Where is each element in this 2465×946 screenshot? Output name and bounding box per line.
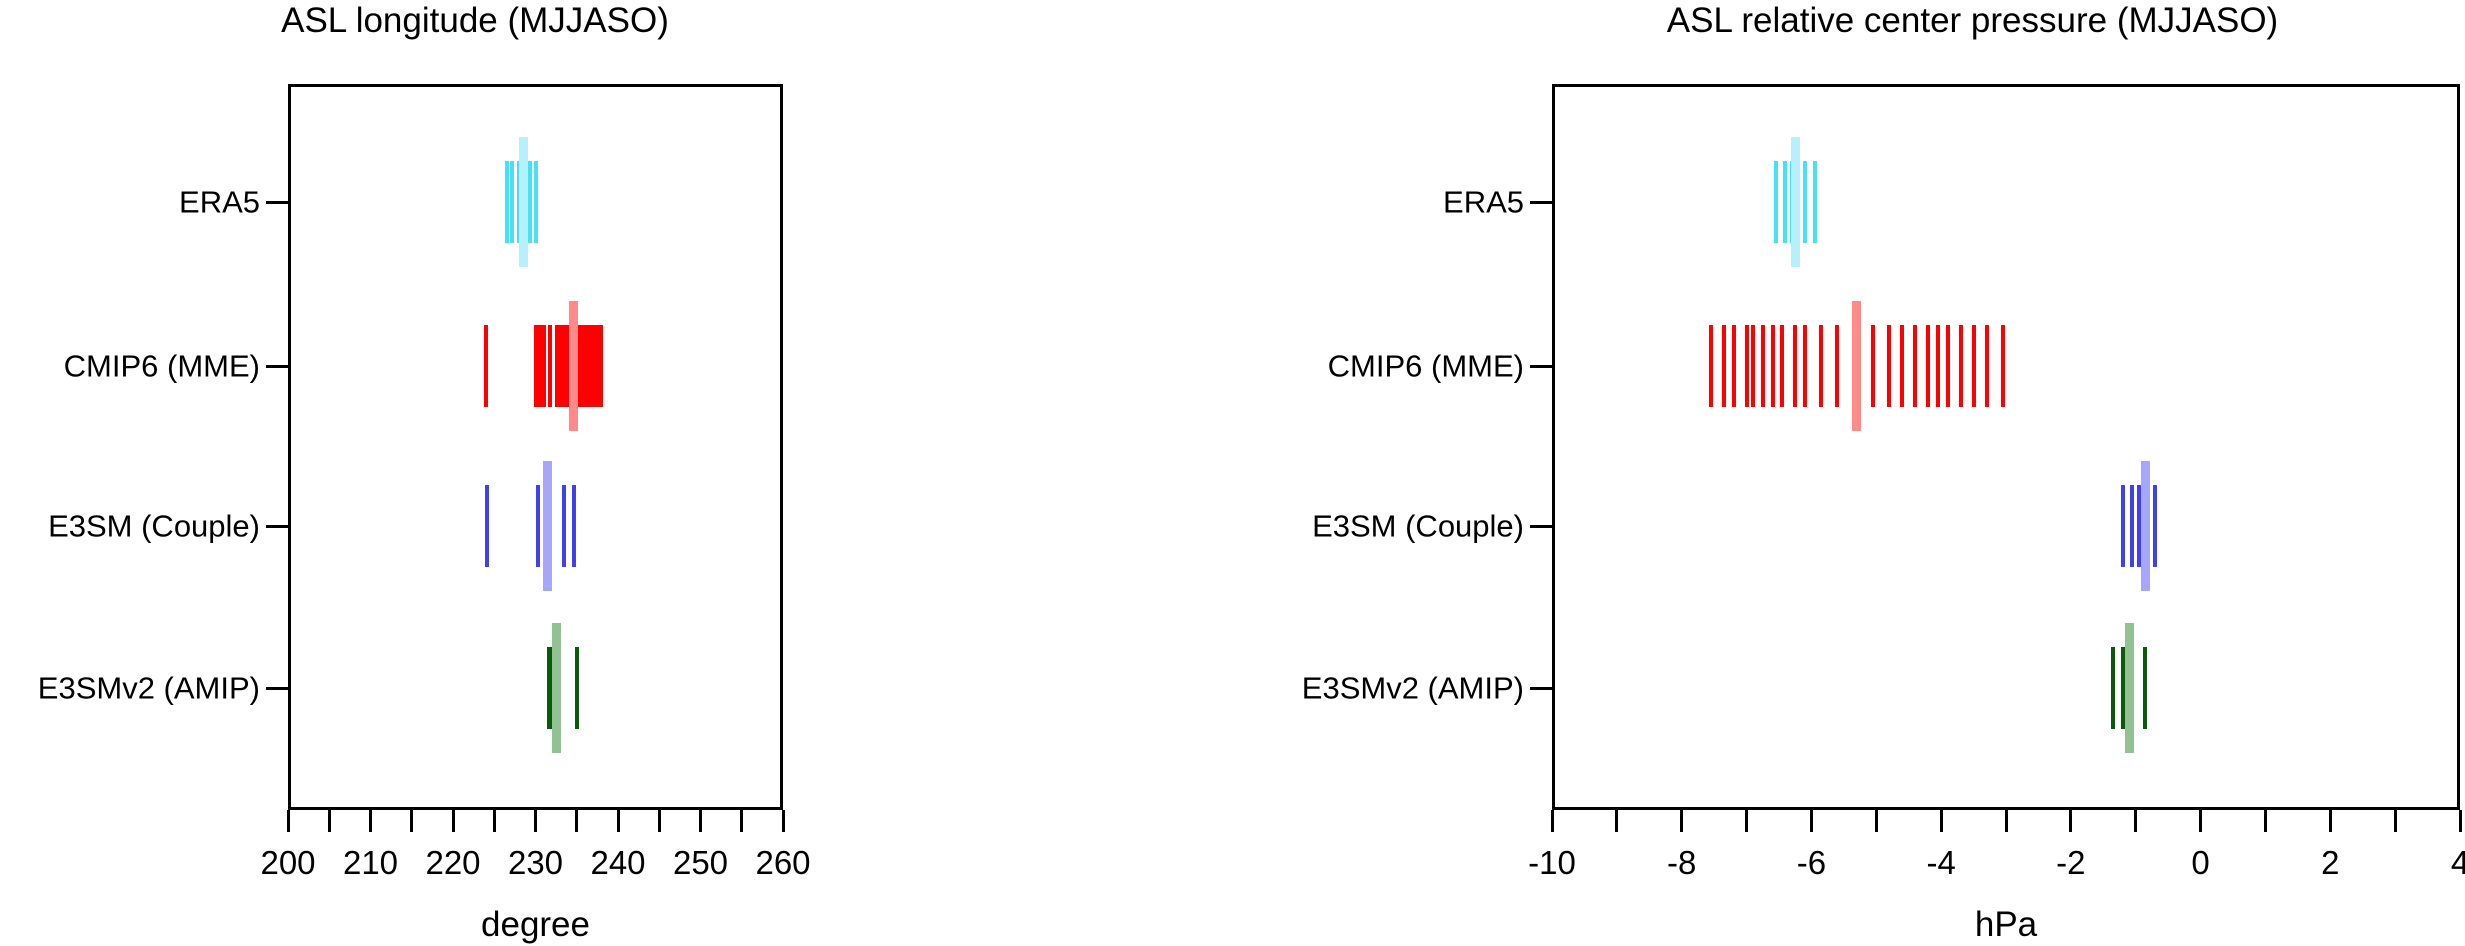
x-axis-major-tick (1810, 810, 1813, 832)
panel-title-pressure: ASL relative center pressure (MJJASO) (1480, 2, 2465, 40)
data-mark-cmip6 (1871, 325, 1875, 407)
data-mark-e3sm (2153, 485, 2157, 567)
x-axis-title-pressure: hPa (1975, 907, 2037, 942)
data-mark-cmip6 (1936, 325, 1940, 407)
x-axis-major-tick (2459, 810, 2462, 832)
x-axis-major-tick (1680, 810, 1683, 832)
data-mark-e3smv2 (2143, 647, 2147, 729)
data-mark-era5 (1783, 161, 1787, 243)
mean-mark-cmip6 (1852, 301, 1861, 431)
x-axis-major-tick (1940, 810, 1943, 832)
data-mark-cmip6 (1771, 325, 1775, 407)
x-axis-major-tick (2329, 810, 2332, 832)
data-mark-cmip6 (1761, 325, 1765, 407)
data-mark-e3smv2 (2111, 647, 2115, 729)
data-mark-era5 (1803, 161, 1807, 243)
x-axis-major-tick (1551, 810, 1554, 832)
data-mark-era5 (1774, 161, 1778, 243)
y-axis-tick (1530, 687, 1552, 690)
x-axis-tick-label: -4 (1926, 846, 1955, 879)
x-axis-tick-label: -10 (1528, 846, 1576, 879)
x-axis-minor-tick (1875, 810, 1878, 832)
y-axis-label-e3smv2: E3SMv2 (AMIP) (0, 673, 1524, 704)
mean-mark-e3smv2 (2125, 623, 2134, 753)
y-axis-label-era5: ERA5 (0, 187, 1524, 218)
data-mark-cmip6 (1751, 325, 1755, 407)
y-axis-tick (1530, 525, 1552, 528)
x-axis-minor-tick (1615, 810, 1618, 832)
panel-pressure: ASL relative center pressure (MJJASO)-10… (0, 0, 2465, 946)
data-mark-cmip6 (1913, 325, 1917, 407)
data-mark-cmip6 (1887, 325, 1891, 407)
mean-mark-e3sm (2141, 461, 2150, 591)
x-axis-major-tick (2199, 810, 2202, 832)
x-axis-major-tick (2069, 810, 2072, 832)
y-axis-tick (1530, 365, 1552, 368)
data-mark-cmip6 (1900, 325, 1904, 407)
data-mark-cmip6 (1985, 325, 1989, 407)
data-mark-cmip6 (1709, 325, 1713, 407)
x-axis-minor-tick (2264, 810, 2267, 832)
data-mark-cmip6 (1780, 325, 1784, 407)
x-axis-tick-label: -6 (1797, 846, 1826, 879)
y-axis-tick (1530, 201, 1552, 204)
data-mark-e3sm (2121, 485, 2125, 567)
data-mark-cmip6 (1732, 325, 1736, 407)
data-mark-cmip6 (2001, 325, 2005, 407)
x-axis-tick-label: 2 (2321, 846, 2339, 879)
mean-mark-era5 (1791, 137, 1800, 267)
figure-canvas: ASL longitude (MJJASO)200210220230240250… (0, 0, 2465, 946)
x-axis-minor-tick (2134, 810, 2137, 832)
data-mark-e3sm (2130, 485, 2134, 567)
data-mark-cmip6 (1946, 325, 1950, 407)
data-mark-cmip6 (1819, 325, 1823, 407)
x-axis-minor-tick (1745, 810, 1748, 832)
data-mark-cmip6 (1959, 325, 1963, 407)
x-axis-minor-tick (2005, 810, 2008, 832)
x-axis-tick-label: -2 (2056, 846, 2085, 879)
data-mark-cmip6 (1745, 325, 1749, 407)
data-mark-cmip6 (1803, 325, 1807, 407)
x-axis-tick-label: 4 (2451, 846, 2465, 879)
plot-frame-pressure (1552, 84, 2460, 810)
data-mark-cmip6 (1722, 325, 1726, 407)
x-axis-tick-label: -8 (1667, 846, 1696, 879)
y-axis-label-e3sm: E3SM (Couple) (0, 511, 1524, 542)
x-axis-minor-tick (2394, 810, 2397, 832)
data-mark-era5 (1813, 161, 1817, 243)
x-axis-tick-label: 0 (2191, 846, 2209, 879)
data-mark-cmip6 (1926, 325, 1930, 407)
data-mark-cmip6 (1835, 325, 1839, 407)
data-mark-cmip6 (1793, 325, 1797, 407)
y-axis-label-cmip6: CMIP6 (MME) (0, 351, 1524, 382)
data-mark-cmip6 (1972, 325, 1976, 407)
